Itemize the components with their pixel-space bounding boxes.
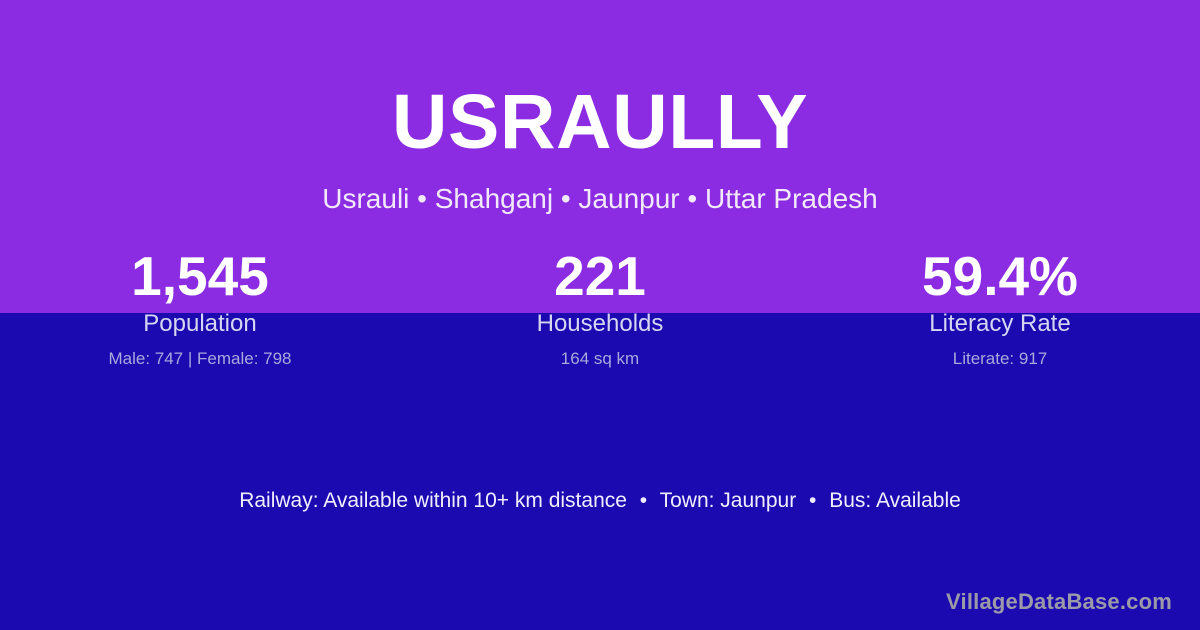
stat-detail: Male: 747 | Female: 798 bbox=[0, 348, 400, 369]
stat-detail: Literate: 917 bbox=[800, 348, 1200, 369]
stat-value: 1,545 bbox=[0, 248, 400, 305]
stat-label: Households bbox=[400, 309, 800, 339]
stat-population: 1,545 Population Male: 747 | Female: 798 bbox=[0, 248, 400, 369]
stat-label: Population bbox=[0, 309, 400, 339]
page-title: USRAULLY bbox=[0, 84, 1200, 161]
stat-literacy-rate: 59.4% Literacy Rate Literate: 917 bbox=[800, 248, 1200, 369]
amenity-town: Town: Jaunpur bbox=[660, 489, 797, 512]
stat-value: 221 bbox=[400, 248, 800, 305]
stat-households: 221 Households 164 sq km bbox=[400, 248, 800, 369]
stat-label: Literacy Rate bbox=[800, 309, 1200, 339]
stat-value: 59.4% bbox=[800, 248, 1200, 305]
amenities-line: Railway: Available within 10+ km distanc… bbox=[0, 487, 1200, 514]
amenity-bus: Bus: Available bbox=[829, 489, 961, 512]
card-content: USRAULLY Usrauli • Shahganj • Jaunpur • … bbox=[0, 0, 1200, 630]
amenity-railway: Railway: Available within 10+ km distanc… bbox=[239, 489, 627, 512]
village-info-card: USRAULLY Usrauli • Shahganj • Jaunpur • … bbox=[0, 0, 1200, 630]
breadcrumb: Usrauli • Shahganj • Jaunpur • Uttar Pra… bbox=[0, 182, 1200, 216]
stats-row: 1,545 Population Male: 747 | Female: 798… bbox=[0, 248, 1200, 369]
stat-detail: 164 sq km bbox=[400, 348, 800, 369]
amenity-separator: • bbox=[633, 489, 654, 512]
amenity-separator: • bbox=[802, 489, 823, 512]
site-watermark: VillageDataBase.com bbox=[946, 589, 1172, 615]
